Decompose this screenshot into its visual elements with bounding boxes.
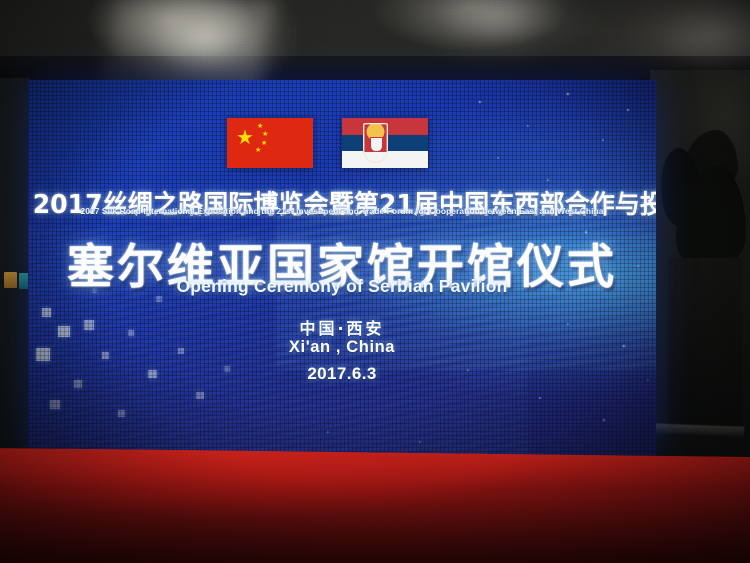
ceremony-title-english: Opening Ceremony of Serbian Pavilion (28, 276, 656, 297)
right-stage-area (650, 70, 750, 470)
china-flag-big-star: ★ (236, 128, 254, 148)
china-flag: ★ ★ ★ ★ ★ (227, 118, 313, 168)
stage-rail (648, 423, 744, 436)
photo-scene: ★ ★ ★ ★ ★ 2017丝绸之路国际博览会暨第21届中国东西部合作与投资贸易… (0, 0, 750, 563)
location-english: Xi'an , China (28, 338, 656, 357)
location-chinese: 中国·西安 (28, 315, 656, 339)
china-flag-small-star: ★ (261, 140, 267, 147)
china-flag-small-star: ★ (257, 123, 263, 130)
china-flag-small-star: ★ (262, 131, 268, 138)
serbia-flag (342, 118, 428, 168)
event-headline-english: 2017 Silk Road International Exposition … (28, 206, 656, 216)
serbia-coat-of-arms-icon (363, 123, 388, 163)
led-video-wall: ★ ★ ★ ★ ★ 2017丝绸之路国际博览会暨第21届中国东西部合作与投资贸易… (28, 80, 656, 456)
stage-pedestal (668, 258, 742, 430)
china-flag-small-star: ★ (255, 147, 261, 154)
event-date: 2017.6.3 (28, 364, 656, 384)
flag-pair: ★ ★ ★ ★ ★ (227, 118, 428, 168)
wall-sign-amber (4, 272, 17, 288)
carpet-shadow (0, 493, 750, 563)
ceiling-beam (0, 56, 750, 82)
